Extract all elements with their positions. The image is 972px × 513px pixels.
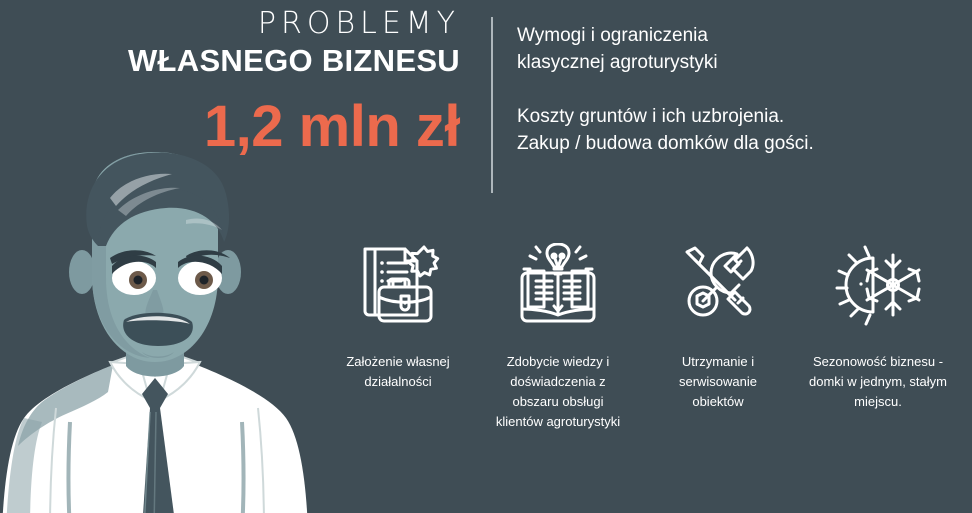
- page-title: WŁASNEGO BIZNESU: [0, 42, 478, 81]
- headline-block: PROBLEMY WŁASNEGO BIZNESU: [0, 8, 478, 80]
- paragraph-1-line-2: klasycznej agroturystyki: [517, 49, 957, 76]
- document-gear-briefcase-icon: [355, 240, 441, 330]
- slide-canvas: PROBLEMY WŁASNEGO BIZNESU 1,2 mln zł Wym…: [0, 0, 972, 513]
- feature-item-1: Założenie własnej działalności: [318, 240, 478, 392]
- feature-caption-3: Utrzymanie i serwisowanie obiektów: [661, 352, 776, 412]
- feature-caption-1: Założenie własnej działalności: [331, 352, 466, 392]
- kicker-text: PROBLEMY: [0, 8, 478, 40]
- feature-caption-4: Sezonowość biznesu - domki w jednym, sta…: [808, 352, 948, 412]
- feature-item-4: Sezonowość biznesu - domki w jednym, sta…: [798, 240, 958, 412]
- icon-feature-row: Założenie własnej działalności: [318, 240, 958, 490]
- paragraph-1-line-1: Wymogi i ograniczenia: [517, 22, 957, 49]
- worried-businessman-illustration: [0, 150, 320, 513]
- right-text-block: Wymogi i ograniczenia klasycznej agrotur…: [517, 22, 957, 157]
- paragraph-2-line-1: Koszty gruntów i ich uzbrojenia.: [517, 103, 957, 130]
- feature-caption-2: Zdobycie wiedzy i doświadczenia z obszar…: [496, 352, 621, 432]
- paragraph-2-line-2: Zakup / budowa domków dla gości.: [517, 130, 957, 157]
- book-lightbulb-icon: [516, 240, 600, 330]
- sun-snowflake-icon: [835, 240, 921, 330]
- amount-highlight: 1,2 mln zł: [0, 98, 478, 156]
- feature-item-3: Utrzymanie i serwisowanie obiektów: [638, 240, 798, 412]
- paragraph-spacer: [517, 76, 957, 103]
- feature-item-2: Zdobycie wiedzy i doświadczenia z obszar…: [478, 240, 638, 432]
- vertical-divider: [491, 17, 493, 193]
- wrench-screwdriver-icon: [677, 240, 759, 330]
